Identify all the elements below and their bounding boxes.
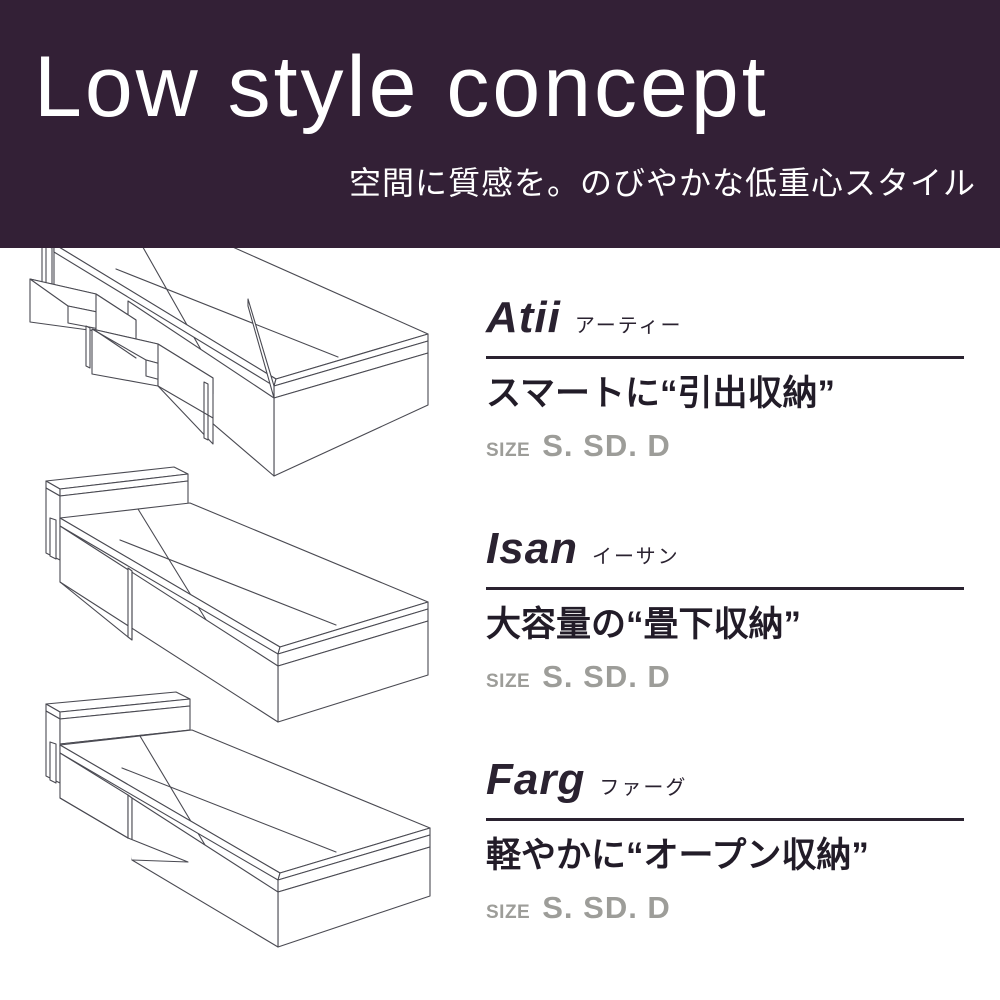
product-name-en: Isan xyxy=(486,527,578,571)
product-divider xyxy=(486,356,964,359)
product-name-kana: ファーグ xyxy=(599,778,687,798)
size-label: SIZE xyxy=(486,440,530,462)
page-subtitle: 空間に質感を。のびやかな低重心スタイル xyxy=(349,158,976,204)
product-size-row: SIZE S. SD. D xyxy=(486,890,964,926)
product-card-farg: Farg ファーグ 軽やかに“オープン収納” SIZE S. SD. D xyxy=(486,758,964,926)
page-title: Low style concept xyxy=(34,42,769,132)
product-divider xyxy=(486,587,964,590)
product-tagline: 大容量の“畳下収納” xyxy=(486,606,964,645)
poster-canvas: Low style concept 空間に質感を。のびやかな低重心スタイル At… xyxy=(0,0,1000,1000)
product-size-row: SIZE S. SD. D xyxy=(486,659,964,695)
product-name-row: Isan イーサン xyxy=(486,527,964,583)
product-name-en: Atii xyxy=(486,296,561,340)
bed-illustration-isan xyxy=(10,450,470,730)
size-value: S. SD. D xyxy=(542,428,671,464)
product-divider xyxy=(486,818,964,821)
product-size-row: SIZE S. SD. D xyxy=(486,428,964,464)
header-banner: Low style concept 空間に質感を。のびやかな低重心スタイル xyxy=(0,0,1000,248)
size-value: S. SD. D xyxy=(542,890,671,926)
size-label: SIZE xyxy=(486,902,530,924)
product-name-en: Farg xyxy=(486,758,585,802)
product-name-row: Farg ファーグ xyxy=(486,758,964,814)
product-card-atii: Atii アーティー スマートに“引出収納” SIZE S. SD. D xyxy=(486,296,964,464)
product-name-kana: イーサン xyxy=(592,547,680,567)
product-tagline: 軽やかに“オープン収納” xyxy=(486,837,964,876)
product-name-row: Atii アーティー xyxy=(486,296,964,352)
product-tagline: スマートに“引出収納” xyxy=(486,375,964,414)
size-label: SIZE xyxy=(486,671,530,693)
size-value: S. SD. D xyxy=(542,659,671,695)
bed-illustration-farg xyxy=(10,690,470,980)
product-card-isan: Isan イーサン 大容量の“畳下収納” SIZE S. SD. D xyxy=(486,527,964,695)
product-name-kana: アーティー xyxy=(575,316,683,336)
